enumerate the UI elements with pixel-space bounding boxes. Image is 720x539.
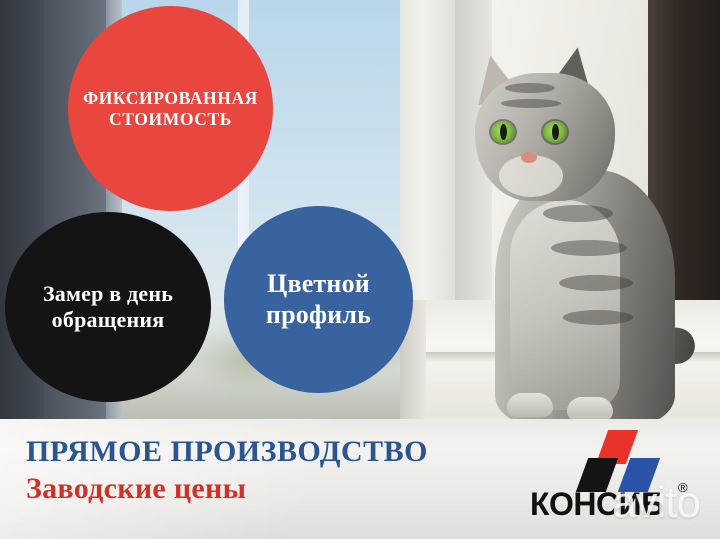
banner-headline: ПРЯМОЕ ПРОИЗВОДСТВО bbox=[26, 435, 428, 469]
cat-paw-right bbox=[567, 397, 613, 421]
cat-stripe bbox=[559, 275, 633, 291]
cat-nose bbox=[521, 152, 537, 163]
cat-eye-right bbox=[543, 121, 567, 143]
badge-fixed-price-line1: ФИКСИРОВАННАЯ bbox=[75, 88, 266, 109]
cat-chest bbox=[510, 200, 620, 410]
cat-eye-left bbox=[491, 121, 515, 143]
banner-subheadline: Заводские цены bbox=[26, 472, 246, 506]
badge-same-day: Замер в день обращения bbox=[5, 212, 211, 402]
badge-fixed-price-line2: СТОИМОСТЬ bbox=[75, 109, 266, 130]
badge-fixed-price: ФИКСИРОВАННАЯ СТОИМОСТЬ bbox=[68, 6, 273, 211]
cat-paw-left bbox=[507, 393, 553, 417]
badge-color-profile-line1: Цветной bbox=[258, 269, 379, 300]
logo-mark-icon bbox=[568, 428, 658, 490]
company-logo: КОНСИБ ® bbox=[530, 428, 700, 528]
cat-stripe bbox=[551, 240, 627, 256]
cat-forehead-stripe bbox=[501, 99, 561, 108]
badge-same-day-line2: обращения bbox=[35, 307, 181, 333]
cat-forehead-stripe bbox=[505, 83, 555, 93]
logo-registered-mark: ® bbox=[678, 480, 688, 495]
advertisement-canvas: ФИКСИРОВАННАЯ СТОИМОСТЬ Замер в день обр… bbox=[0, 0, 720, 539]
cat-stripe bbox=[543, 205, 613, 222]
cat-stripe bbox=[563, 310, 633, 325]
badge-same-day-line1: Замер в день bbox=[35, 281, 181, 307]
badge-color-profile: Цветной профиль bbox=[224, 206, 413, 393]
cat-illustration bbox=[455, 25, 705, 421]
logo-wordmark: КОНСИБ bbox=[530, 486, 664, 523]
badge-color-profile-line2: профиль bbox=[258, 300, 379, 331]
